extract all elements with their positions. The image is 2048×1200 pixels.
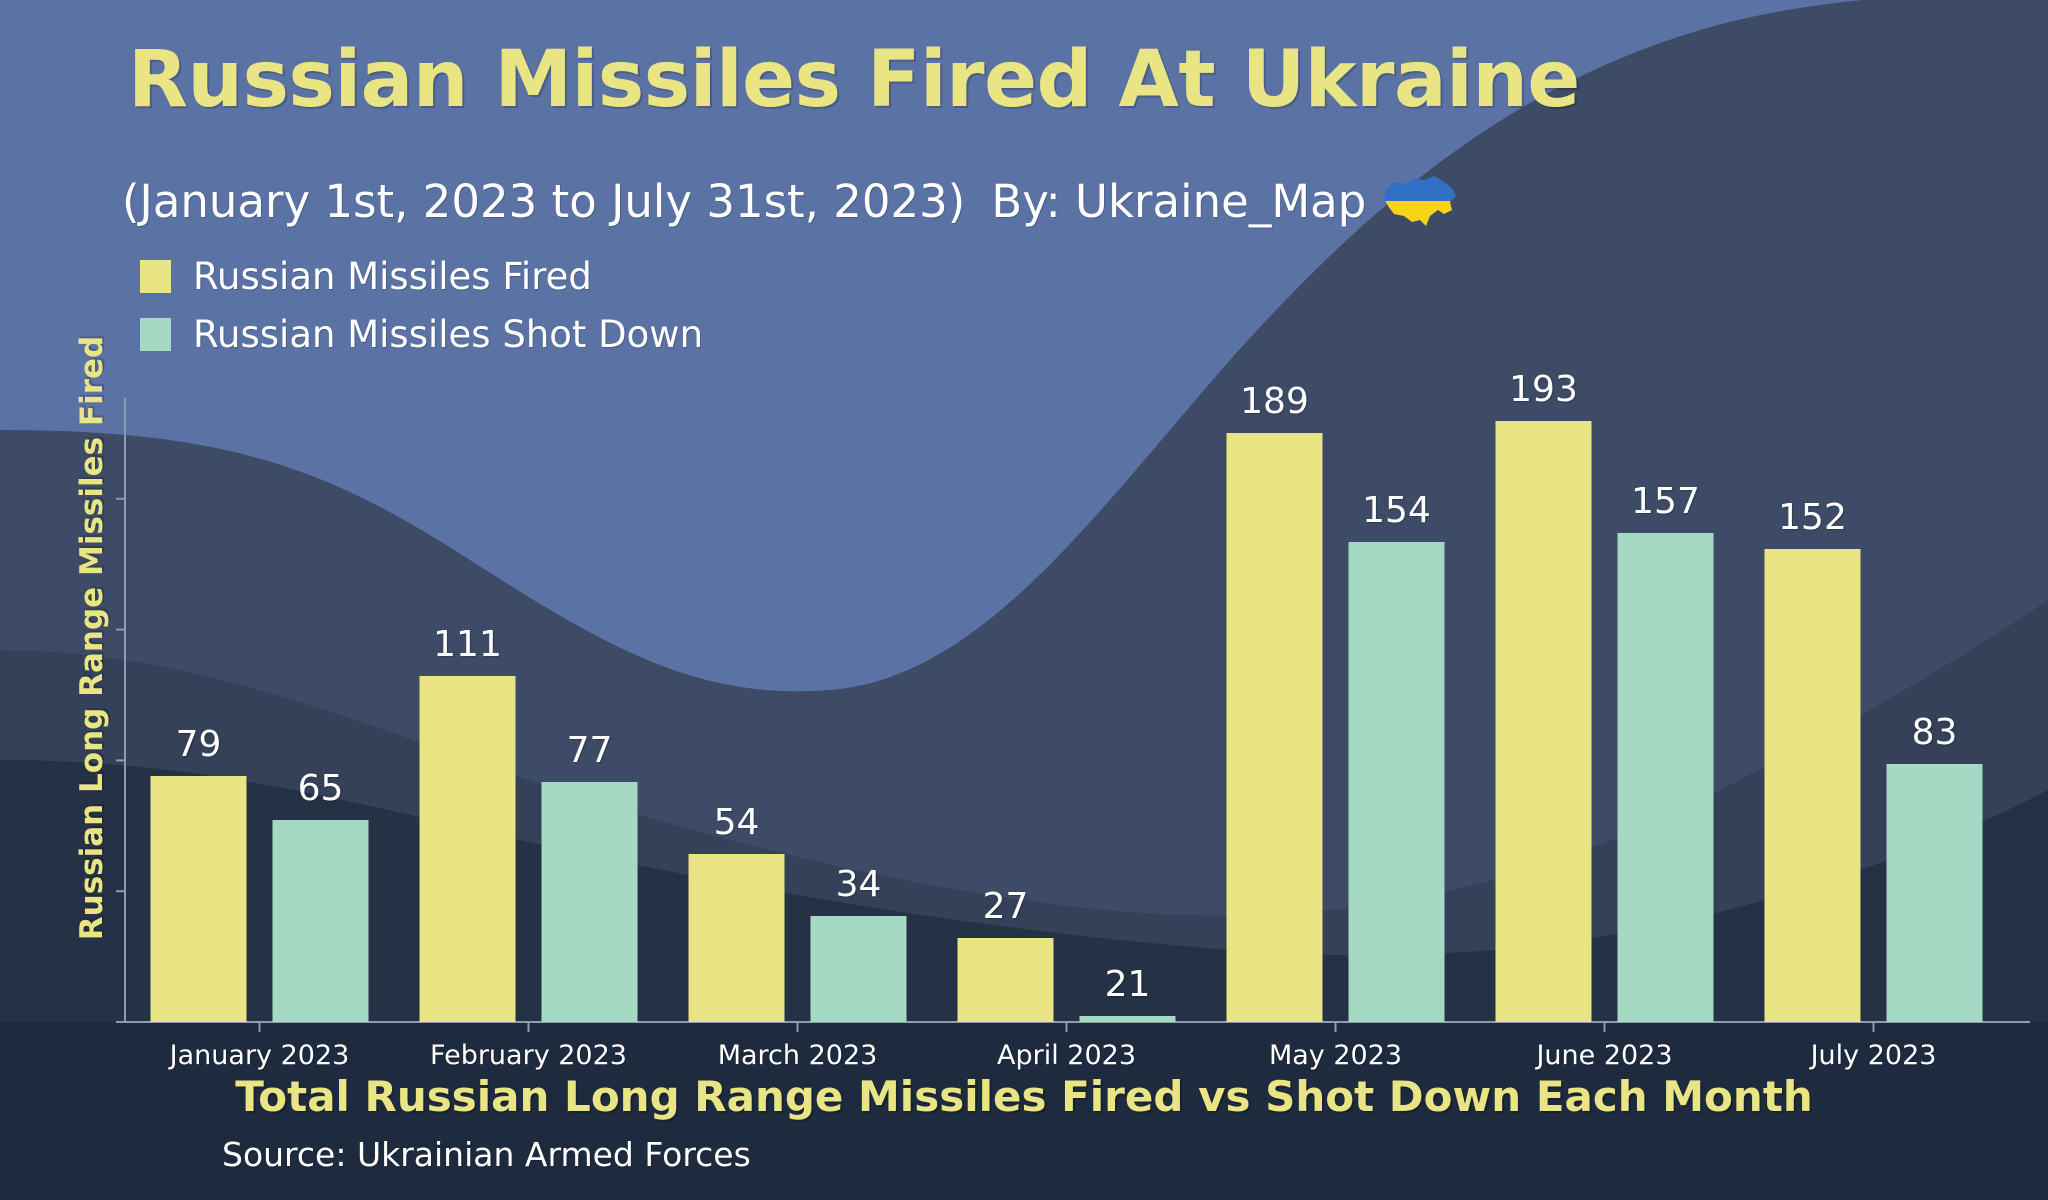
bar-shot-down[interactable]	[542, 782, 638, 1022]
x-axis-tick-label: June 2023	[1536, 1040, 1672, 1071]
x-axis-tick-label: May 2023	[1269, 1040, 1402, 1071]
bar-shot-down[interactable]	[811, 916, 907, 1022]
bar-fired[interactable]	[1765, 549, 1861, 1022]
x-axis-title: Total Russian Long Range Missiles Fired …	[0, 1072, 2048, 1121]
bar-fired[interactable]	[420, 676, 516, 1022]
bar-fired[interactable]	[1227, 433, 1323, 1022]
x-axis-tick-label: January 2023	[170, 1040, 350, 1071]
bar-shot-down[interactable]	[273, 820, 369, 1022]
bar-fired[interactable]	[151, 776, 247, 1022]
axes	[0, 0, 2048, 1200]
x-axis-tick-label: April 2023	[997, 1040, 1136, 1071]
bar-fired[interactable]	[689, 854, 785, 1022]
bar-fired[interactable]	[958, 938, 1054, 1022]
bar-shot-down[interactable]	[1618, 533, 1714, 1022]
source-note: Source: Ukrainian Armed Forces	[222, 1135, 751, 1174]
bar-shot-down[interactable]	[1349, 542, 1445, 1022]
bar-shot-down[interactable]	[1080, 1016, 1176, 1022]
bar-shot-down[interactable]	[1887, 764, 1983, 1022]
plot-area: 7911154271891931526577342115415783Januar…	[0, 0, 2048, 1200]
x-axis-tick-label: March 2023	[718, 1040, 878, 1071]
x-axis-tick-label: July 2023	[1811, 1040, 1937, 1071]
bar-fired[interactable]	[1496, 421, 1592, 1022]
x-axis-tick-label: February 2023	[430, 1040, 627, 1071]
chart-canvas: Russian Missiles Fired At Ukraine (Janua…	[0, 0, 2048, 1200]
